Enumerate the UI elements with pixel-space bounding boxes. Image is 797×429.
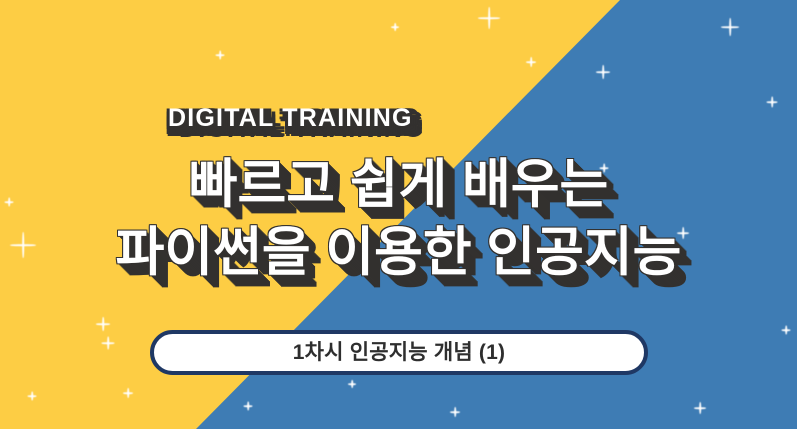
course-title-slide: DIGITAL TRAINING 빠르고 쉽게 배우는 파이썬을 이용한 인공지…	[0, 0, 797, 429]
headline-line-2: 파이썬을 이용한 인공지능	[0, 220, 797, 286]
subtitle-label: 1차시 인공지능 개념 (1)	[293, 342, 505, 363]
subtitle-pill: 1차시 인공지능 개념 (1)	[150, 330, 648, 375]
headline-block: 빠르고 쉽게 배우는 파이썬을 이용한 인공지능	[0, 152, 797, 285]
headline-line-1: 빠르고 쉽게 배우는	[0, 152, 797, 218]
eyebrow-label: DIGITAL TRAINING	[168, 106, 413, 131]
